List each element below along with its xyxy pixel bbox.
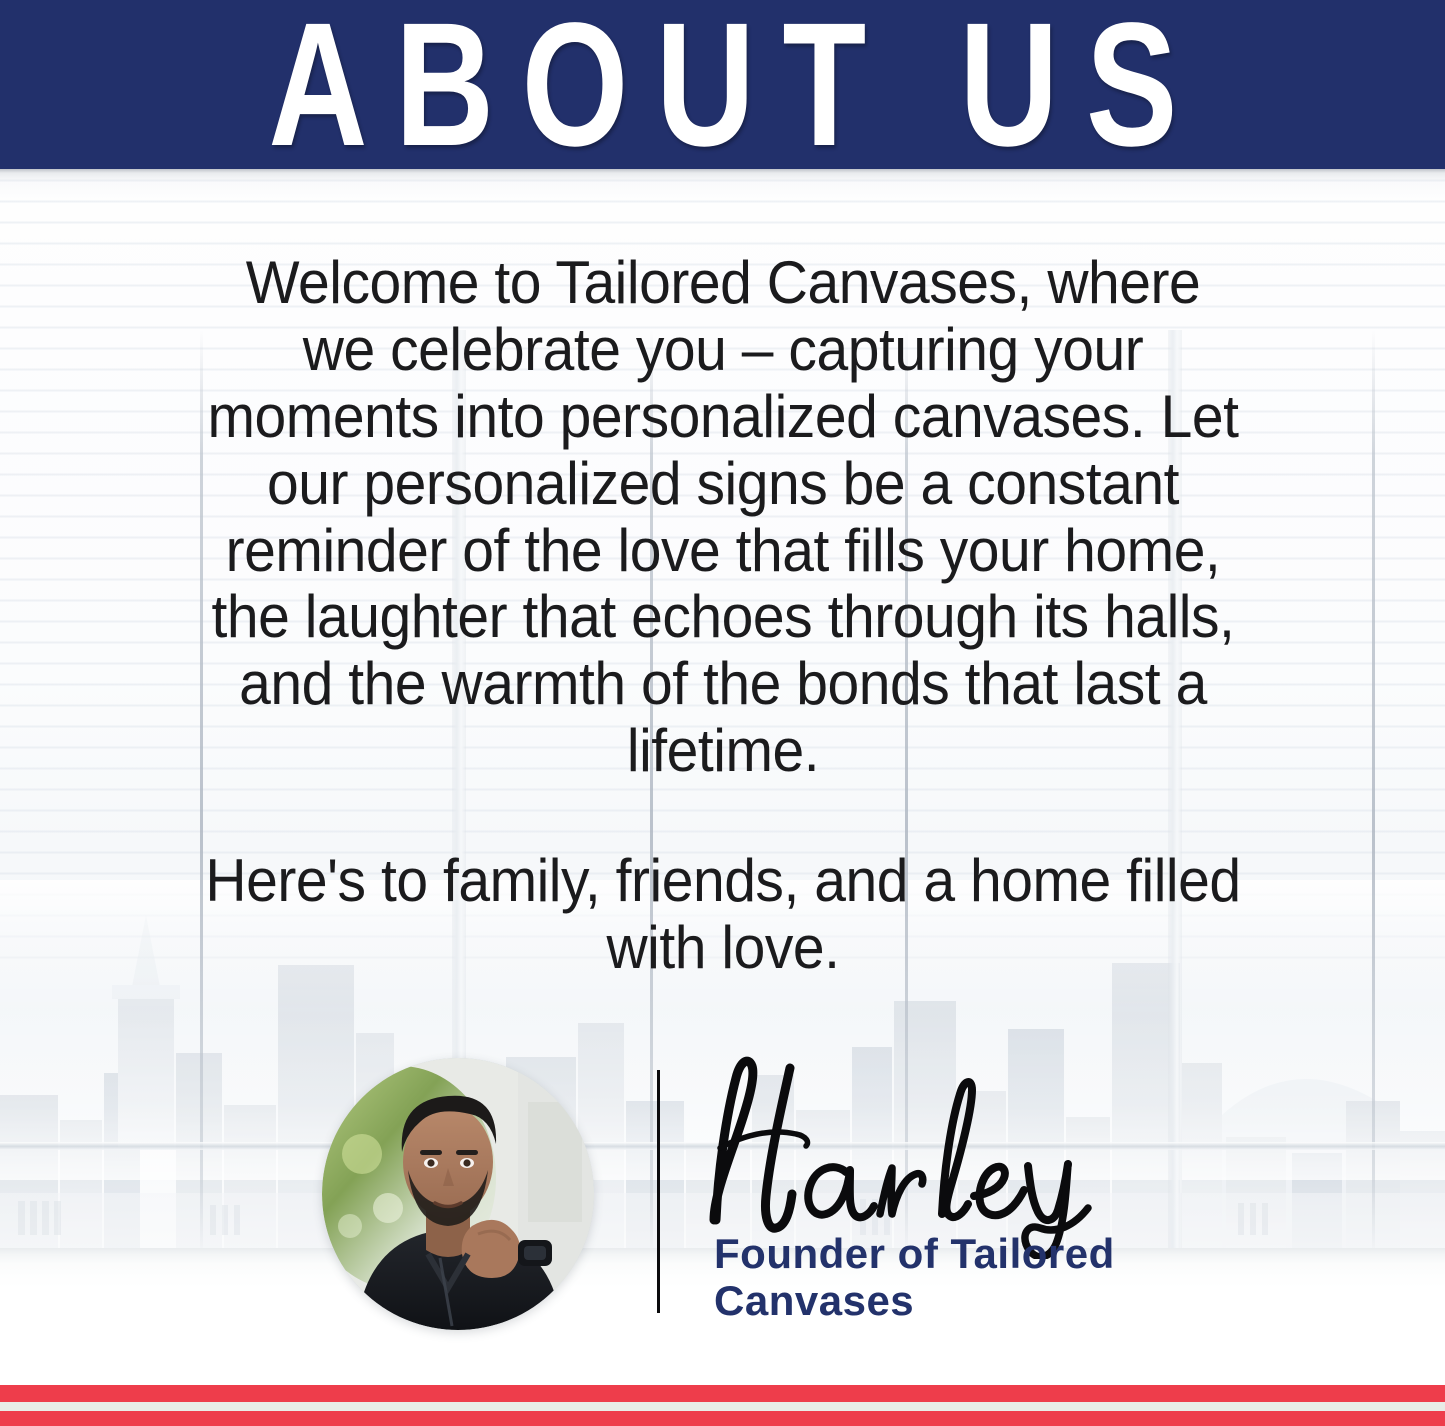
header-banner: ABOUT US — [0, 0, 1445, 169]
founder-role-line-1: Founder of Tailored — [714, 1230, 1184, 1277]
footer-stripe-gap — [0, 1402, 1445, 1411]
window-mullion — [1372, 330, 1375, 1255]
paragraph-2: Here's to family, friends, and a home fi… — [205, 848, 1241, 982]
founder-signature-script — [674, 1044, 1144, 1259]
paragraph-spacer — [178, 785, 1268, 848]
avatar — [322, 1058, 594, 1330]
footer-stripe-upper — [0, 1385, 1445, 1402]
signature-divider — [657, 1070, 660, 1313]
about-us-poster: ABOUT US Welcome to Tailored Canvases, w… — [0, 0, 1445, 1426]
page-title: ABOUT US — [240, 0, 1204, 173]
footer-stripe-lower — [0, 1411, 1445, 1426]
founder-role: Founder of Tailored Canvases — [714, 1230, 1184, 1324]
paragraph-1: Welcome to Tailored Canvases, where we c… — [205, 250, 1241, 785]
founder-signature-block: Founder of Tailored Canvases — [322, 1050, 1202, 1340]
about-body-copy: Welcome to Tailored Canvases, where we c… — [178, 250, 1268, 982]
founder-role-line-2: Canvases — [714, 1277, 1184, 1324]
